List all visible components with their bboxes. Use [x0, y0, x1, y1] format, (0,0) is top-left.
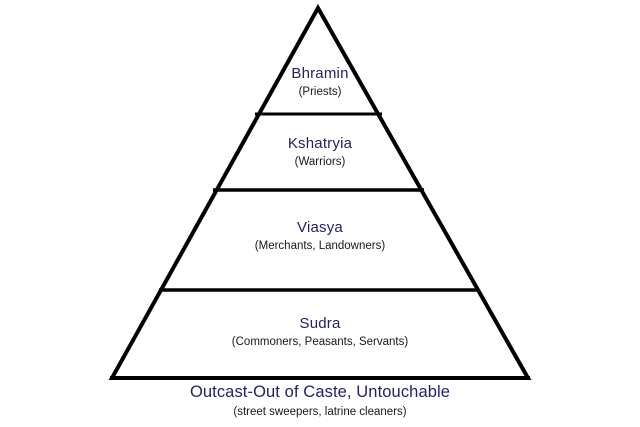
pyramid-shape	[0, 0, 640, 427]
caste-pyramid-diagram: Bhramin (Priests) Kshatryia (Warriors) V…	[0, 0, 640, 427]
pyramid-outline	[112, 8, 528, 378]
